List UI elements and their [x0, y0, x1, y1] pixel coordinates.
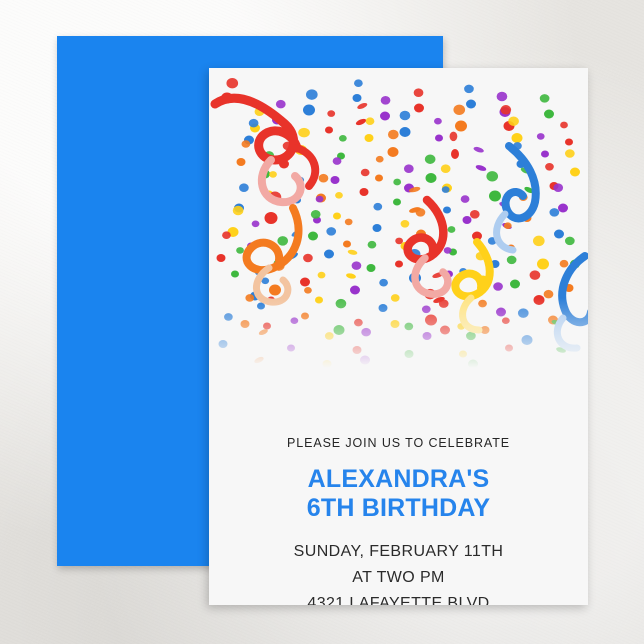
invitation-text-block: PLEASE JOIN US TO CELEBRATE ALEXANDRA'S … — [209, 368, 588, 605]
detail-line-1: SUNDAY, FEBRUARY 11TH — [209, 539, 588, 565]
invitation-front-card[interactable]: PLEASE JOIN US TO CELEBRATE ALEXANDRA'S … — [209, 68, 588, 605]
headline-line-1: ALEXANDRA'S — [209, 465, 588, 494]
detail-line-2: AT TWO PM — [209, 565, 588, 591]
confetti-artwork — [209, 68, 588, 368]
headline-line-2: 6TH BIRTHDAY — [209, 494, 588, 523]
detail-line-3: 4321 LAFAYETTE BLVD — [209, 591, 588, 605]
celebrate-line: PLEASE JOIN US TO CELEBRATE — [209, 436, 588, 450]
